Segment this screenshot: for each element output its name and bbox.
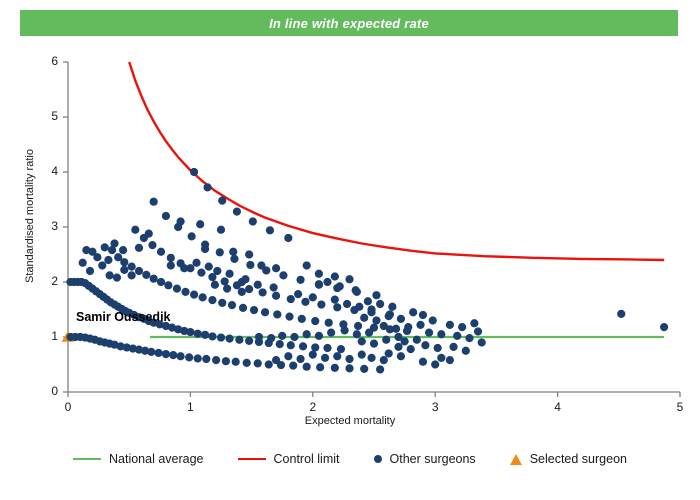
data-point bbox=[190, 291, 198, 299]
data-point bbox=[296, 276, 304, 284]
data-point bbox=[376, 365, 384, 373]
legend-item-other-surgeons[interactable]: Other surgeons bbox=[374, 452, 476, 466]
data-point bbox=[229, 248, 237, 256]
data-point bbox=[213, 267, 221, 275]
legend-label-national-average: National average bbox=[109, 452, 204, 466]
data-point bbox=[315, 332, 323, 340]
data-point bbox=[352, 286, 360, 294]
data-point bbox=[250, 306, 258, 314]
data-point bbox=[223, 285, 231, 293]
data-point bbox=[225, 270, 233, 278]
data-point bbox=[367, 354, 375, 362]
data-point bbox=[104, 256, 112, 264]
data-point bbox=[199, 293, 207, 301]
data-point bbox=[394, 333, 402, 341]
data-point bbox=[254, 359, 262, 367]
data-point bbox=[354, 322, 362, 330]
data-point bbox=[128, 263, 136, 271]
data-point bbox=[364, 297, 372, 305]
data-point bbox=[267, 334, 275, 342]
data-point bbox=[86, 267, 94, 275]
data-point bbox=[323, 344, 331, 352]
data-point bbox=[416, 321, 424, 329]
data-point bbox=[323, 278, 331, 286]
data-point bbox=[446, 321, 454, 329]
data-point bbox=[358, 337, 366, 345]
data-point bbox=[303, 261, 311, 269]
data-point bbox=[217, 226, 225, 234]
data-point bbox=[478, 338, 486, 346]
data-point bbox=[154, 349, 162, 357]
data-point bbox=[299, 342, 307, 350]
data-point bbox=[233, 208, 241, 216]
data-point bbox=[181, 288, 189, 296]
data-point bbox=[331, 296, 339, 304]
data-point bbox=[270, 283, 278, 291]
data-point bbox=[273, 310, 281, 318]
data-point bbox=[311, 343, 319, 351]
data-point bbox=[336, 282, 344, 290]
data-point bbox=[372, 316, 380, 324]
data-point bbox=[315, 270, 323, 278]
data-point bbox=[266, 226, 274, 234]
data-point bbox=[120, 266, 128, 274]
legend-item-national-average[interactable]: National average bbox=[73, 452, 204, 466]
y-tick-label: 4 bbox=[34, 164, 58, 178]
data-point bbox=[245, 285, 253, 293]
data-point bbox=[113, 274, 121, 282]
data-point bbox=[192, 259, 200, 267]
legend-item-selected-surgeon[interactable]: Selected surgeon bbox=[510, 452, 627, 466]
data-point bbox=[397, 352, 405, 360]
data-point bbox=[303, 363, 311, 371]
data-point bbox=[358, 351, 366, 359]
data-point bbox=[360, 365, 368, 373]
other-surgeons-points bbox=[66, 168, 668, 374]
data-point bbox=[208, 332, 216, 340]
data-point bbox=[449, 343, 457, 351]
data-point bbox=[429, 316, 437, 324]
legend-item-control-limit[interactable]: Control limit bbox=[238, 452, 340, 466]
data-point bbox=[341, 326, 349, 334]
data-point bbox=[289, 362, 297, 370]
data-point bbox=[222, 357, 230, 365]
data-point bbox=[388, 303, 396, 311]
data-point bbox=[316, 363, 324, 371]
data-point bbox=[212, 356, 220, 364]
data-point bbox=[294, 290, 302, 298]
data-point bbox=[142, 271, 150, 279]
data-point bbox=[249, 217, 257, 225]
y-tick-label: 5 bbox=[34, 109, 58, 123]
data-point bbox=[162, 212, 170, 220]
data-point bbox=[315, 281, 323, 289]
y-tick-label: 6 bbox=[34, 54, 58, 68]
data-point bbox=[221, 277, 229, 285]
funnel-plot-svg bbox=[0, 40, 700, 440]
data-point bbox=[110, 239, 118, 247]
data-point bbox=[196, 220, 204, 228]
data-point bbox=[162, 350, 170, 358]
data-point bbox=[311, 317, 319, 325]
data-point bbox=[284, 352, 292, 360]
data-point bbox=[177, 217, 185, 225]
x-tick-label: 5 bbox=[668, 400, 692, 414]
data-point bbox=[230, 255, 238, 263]
data-point bbox=[287, 341, 295, 349]
data-point bbox=[243, 359, 251, 367]
data-point bbox=[425, 329, 433, 337]
data-point bbox=[458, 323, 466, 331]
legend-label-selected-surgeon: Selected surgeon bbox=[530, 452, 627, 466]
data-point bbox=[194, 330, 202, 338]
funnel-plot-page: In line with expected rate Standardised … bbox=[0, 0, 700, 500]
data-point bbox=[303, 330, 311, 338]
x-tick-label: 4 bbox=[546, 400, 570, 414]
data-point bbox=[239, 304, 247, 312]
data-point bbox=[157, 248, 165, 256]
data-point bbox=[434, 344, 442, 352]
data-point bbox=[257, 261, 265, 269]
data-point bbox=[225, 335, 233, 343]
data-point bbox=[331, 364, 339, 372]
data-point bbox=[265, 360, 273, 368]
legend-label-other-surgeons: Other surgeons bbox=[390, 452, 476, 466]
data-point bbox=[333, 303, 341, 311]
data-point bbox=[284, 234, 292, 242]
data-point bbox=[150, 198, 158, 206]
data-point bbox=[333, 352, 341, 360]
data-point bbox=[246, 261, 254, 269]
selected-surgeon-annotation: Samir Oussedik bbox=[76, 310, 171, 324]
x-tick-label: 2 bbox=[301, 400, 325, 414]
data-point bbox=[167, 254, 175, 262]
data-point bbox=[345, 364, 353, 372]
data-point bbox=[185, 353, 193, 361]
data-point bbox=[272, 264, 280, 272]
x-tick-label: 0 bbox=[56, 400, 80, 414]
data-point bbox=[365, 329, 373, 337]
data-point bbox=[617, 310, 625, 318]
data-point bbox=[465, 334, 473, 342]
data-point bbox=[287, 295, 295, 303]
data-point bbox=[409, 308, 417, 316]
data-point bbox=[309, 351, 317, 359]
national-average-line-icon bbox=[73, 458, 101, 460]
data-point bbox=[128, 271, 136, 279]
data-point bbox=[407, 345, 415, 353]
data-point bbox=[145, 230, 153, 238]
data-point bbox=[431, 360, 439, 368]
data-point bbox=[343, 300, 351, 308]
data-point bbox=[367, 305, 375, 313]
status-banner: In line with expected rate bbox=[20, 10, 678, 36]
data-point bbox=[380, 322, 388, 330]
data-point bbox=[218, 197, 226, 205]
data-point bbox=[278, 332, 286, 340]
data-point bbox=[238, 288, 246, 296]
data-point bbox=[197, 269, 205, 277]
data-point bbox=[301, 298, 309, 306]
data-point bbox=[660, 323, 668, 331]
data-point bbox=[317, 300, 325, 308]
data-point bbox=[82, 246, 90, 254]
triangle-icon bbox=[510, 454, 522, 465]
data-point bbox=[190, 168, 198, 176]
circle-dot-icon bbox=[374, 455, 382, 463]
legend-label-control-limit: Control limit bbox=[274, 452, 340, 466]
data-point bbox=[203, 183, 211, 191]
data-point bbox=[437, 354, 445, 362]
data-point bbox=[245, 250, 253, 258]
data-point bbox=[245, 337, 253, 345]
data-point bbox=[98, 261, 106, 269]
data-point bbox=[321, 354, 329, 362]
y-tick-label: 3 bbox=[34, 219, 58, 233]
data-point bbox=[169, 351, 177, 359]
data-point bbox=[413, 336, 421, 344]
data-point bbox=[211, 281, 219, 289]
data-point bbox=[453, 332, 461, 340]
data-point bbox=[208, 296, 216, 304]
data-point bbox=[147, 348, 155, 356]
data-point bbox=[261, 308, 269, 316]
data-point bbox=[360, 314, 368, 322]
data-point bbox=[372, 291, 380, 299]
data-point bbox=[119, 246, 127, 254]
chart-area: Standardised mortality ratio Expected mo… bbox=[0, 40, 700, 440]
data-point bbox=[437, 330, 445, 338]
data-point bbox=[298, 315, 306, 323]
data-point bbox=[135, 244, 143, 252]
data-point bbox=[462, 347, 470, 355]
data-point bbox=[345, 275, 353, 283]
data-point bbox=[385, 312, 393, 320]
data-point bbox=[345, 355, 353, 363]
data-point bbox=[232, 358, 240, 366]
data-point bbox=[470, 319, 478, 327]
data-point bbox=[228, 301, 236, 309]
data-point bbox=[419, 358, 427, 366]
data-point bbox=[474, 327, 482, 335]
data-point bbox=[290, 333, 298, 341]
data-point bbox=[148, 241, 156, 249]
data-point bbox=[101, 243, 109, 251]
data-point bbox=[370, 340, 378, 348]
data-point bbox=[421, 341, 429, 349]
data-point bbox=[404, 323, 412, 331]
data-point bbox=[394, 343, 402, 351]
x-tick-label: 3 bbox=[423, 400, 447, 414]
data-point bbox=[120, 258, 128, 266]
data-point bbox=[218, 299, 226, 307]
data-point bbox=[380, 356, 388, 364]
data-point bbox=[205, 263, 213, 271]
data-point bbox=[272, 356, 280, 364]
data-point bbox=[279, 271, 287, 279]
data-point bbox=[353, 330, 361, 338]
data-point bbox=[325, 319, 333, 327]
data-point bbox=[157, 278, 165, 286]
data-point bbox=[327, 329, 335, 337]
data-point bbox=[173, 285, 181, 293]
data-point bbox=[216, 248, 224, 256]
data-point bbox=[186, 328, 194, 336]
data-point bbox=[337, 345, 345, 353]
data-point bbox=[296, 355, 304, 363]
status-banner-label: In line with expected rate bbox=[269, 16, 429, 31]
data-point bbox=[285, 313, 293, 321]
data-point bbox=[167, 261, 175, 269]
y-tick-label: 0 bbox=[34, 384, 58, 398]
control-limit-line bbox=[129, 62, 664, 260]
data-point bbox=[131, 226, 139, 234]
data-point bbox=[217, 333, 225, 341]
data-point bbox=[419, 311, 427, 319]
x-axis-title: Expected mortality bbox=[0, 415, 700, 427]
data-point bbox=[376, 300, 384, 308]
data-point bbox=[382, 336, 390, 344]
data-point bbox=[255, 333, 263, 341]
y-tick-label: 2 bbox=[34, 274, 58, 288]
data-point bbox=[79, 259, 87, 267]
data-point bbox=[106, 271, 114, 279]
data-point bbox=[201, 331, 209, 339]
data-point bbox=[238, 278, 246, 286]
data-point bbox=[135, 267, 143, 275]
data-point bbox=[180, 264, 188, 272]
data-point bbox=[276, 340, 284, 348]
control-limit-line-icon bbox=[238, 458, 266, 460]
data-point bbox=[355, 303, 363, 311]
chart-legend: National average Control limit Other sur… bbox=[0, 452, 700, 466]
x-tick-label: 1 bbox=[178, 400, 202, 414]
data-point bbox=[235, 336, 243, 344]
data-point bbox=[164, 281, 172, 289]
y-tick-label: 1 bbox=[34, 329, 58, 343]
data-point bbox=[259, 288, 267, 296]
data-point bbox=[188, 232, 196, 240]
data-point bbox=[177, 352, 185, 360]
data-point bbox=[331, 272, 339, 280]
data-point bbox=[150, 275, 158, 283]
data-point bbox=[201, 245, 209, 253]
data-point bbox=[272, 292, 280, 300]
data-point bbox=[392, 325, 400, 333]
data-point bbox=[202, 355, 210, 363]
data-point bbox=[385, 349, 393, 357]
data-point bbox=[194, 354, 202, 362]
data-point bbox=[446, 356, 454, 364]
data-point bbox=[397, 315, 405, 323]
data-point bbox=[254, 281, 262, 289]
data-point bbox=[309, 293, 317, 301]
